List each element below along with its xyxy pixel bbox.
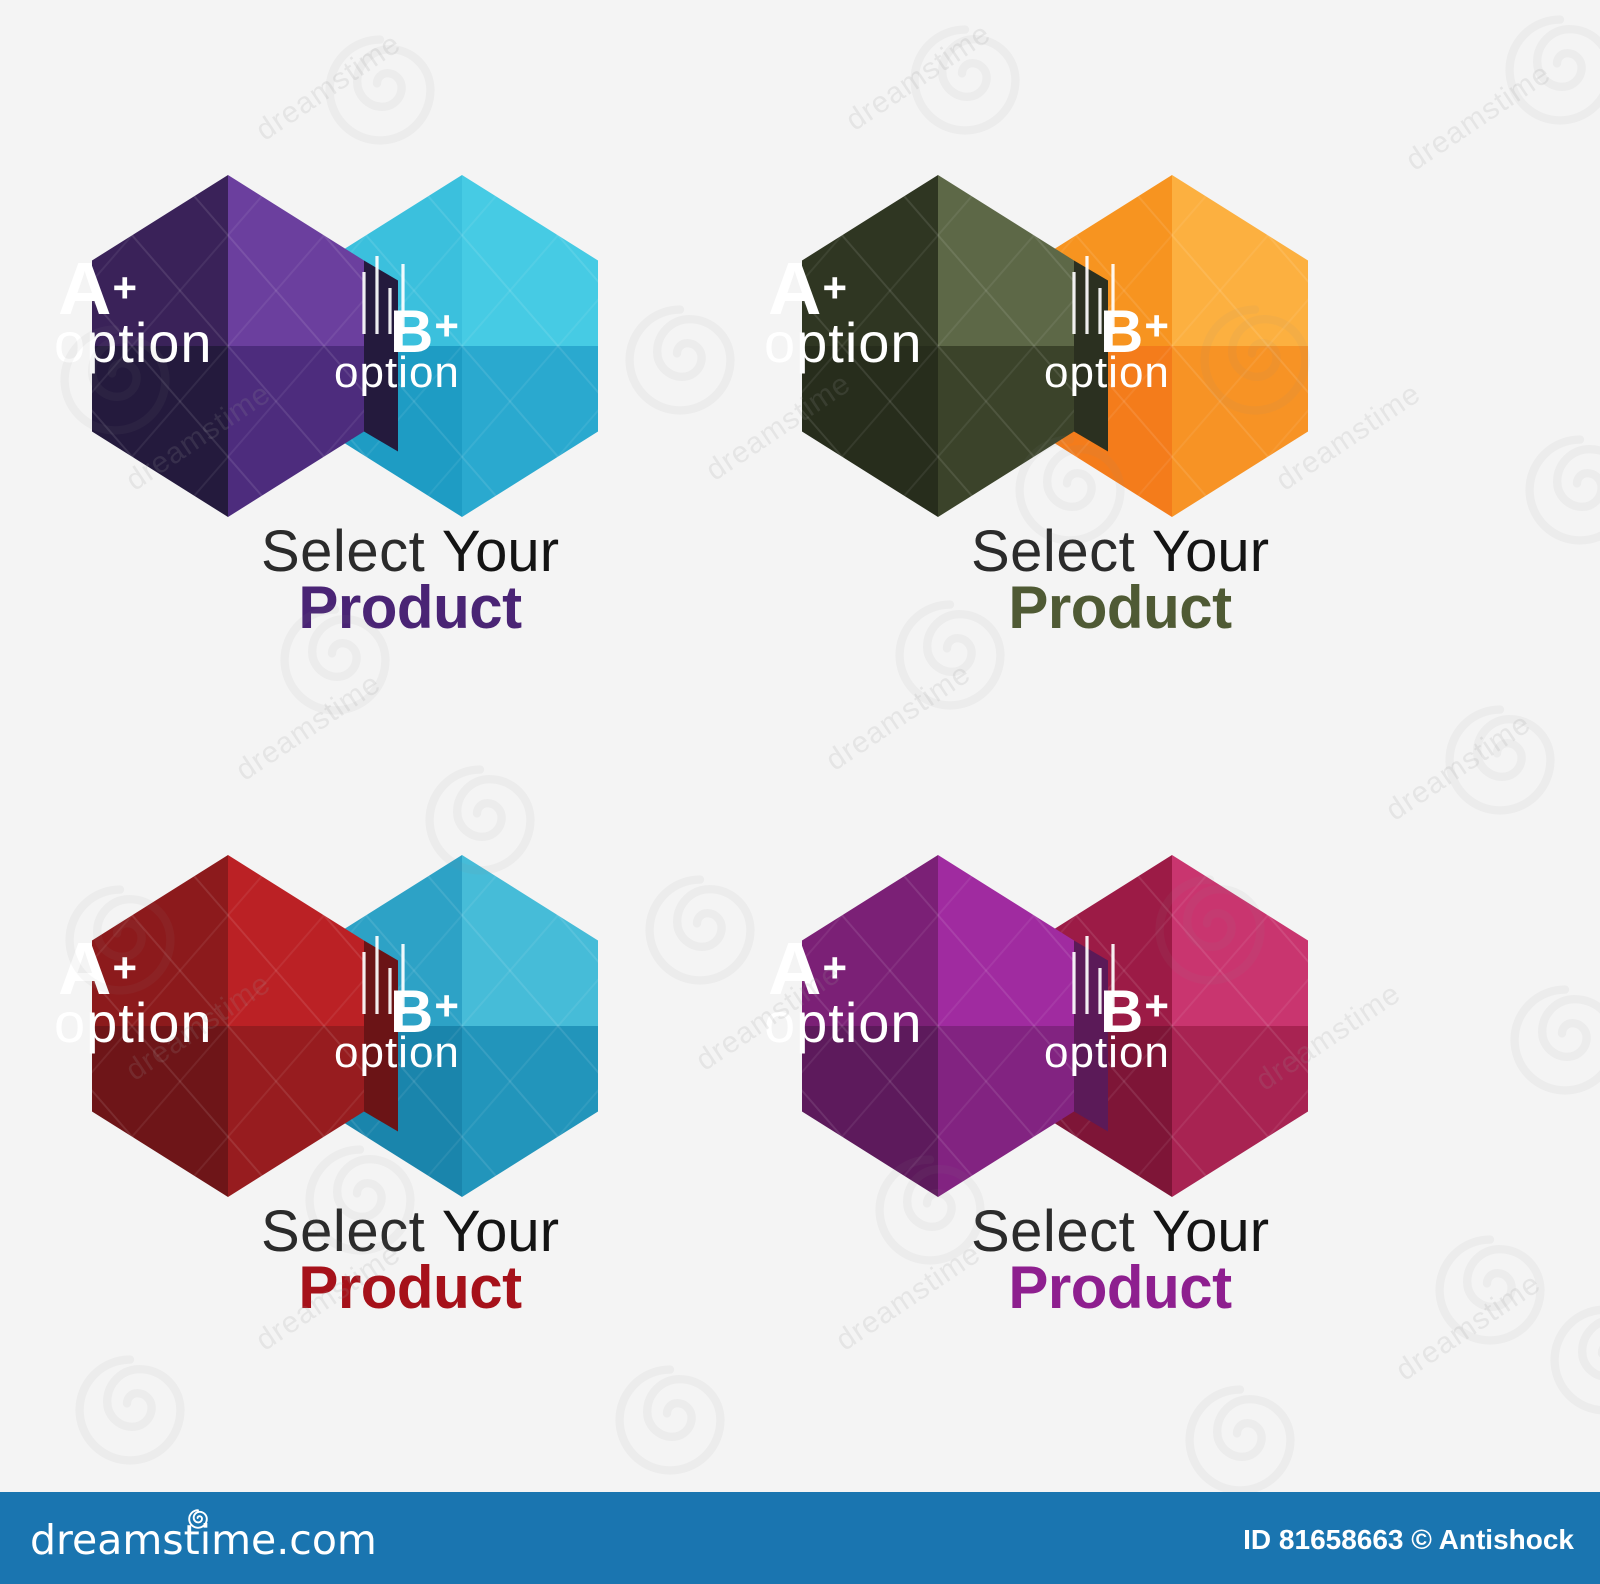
hex-facet-bottom-right <box>1172 1026 1308 1197</box>
image-id-credit: ID 81658663 © Antishock <box>1243 1524 1574 1556</box>
card-headline: Select YourProduct <box>720 1202 1520 1318</box>
hexagon-pair-graphic <box>720 830 1520 1250</box>
hexagon-side-shadow <box>1074 261 1108 452</box>
card-headline: Select YourProduct <box>10 522 810 638</box>
hex-facet-top-left <box>802 175 938 346</box>
headline-line-1: Select Your <box>10 1202 810 1261</box>
product-option-card[interactable]: A+optionB+optionSelect YourProduct <box>10 150 810 850</box>
hex-facet-bottom-right <box>462 346 598 517</box>
hex-facet-top-right <box>462 175 598 346</box>
headline-line-1: Select Your <box>720 522 1520 581</box>
product-option-card[interactable]: A+optionB+optionSelect YourProduct <box>720 830 1520 1530</box>
headline-line-1: Select Your <box>720 1202 1520 1261</box>
headline-word-product: Product <box>720 1257 1520 1318</box>
hex-facet-top-left <box>802 855 938 1026</box>
dreamstime-spiral-icon <box>185 1506 211 1537</box>
hexagon-side-shadow <box>1074 941 1108 1132</box>
hex-facet-top-left <box>92 175 228 346</box>
dreamstime-footer-bar: dreamstime.com ID 81658663 © Antishock <box>0 1492 1600 1584</box>
hex-facet-bottom-right <box>462 1026 598 1197</box>
hexagon-side-shadow <box>364 941 398 1132</box>
hexagon-pair-graphic <box>720 150 1520 570</box>
hex-facet-top-right <box>228 175 364 346</box>
hex-facet-top-right <box>938 175 1074 346</box>
hex-facet-top-right <box>228 855 364 1026</box>
hexagon-tiles-grid: A+optionB+optionSelect YourProductA+opti… <box>0 0 1600 1492</box>
hexagon-pair-graphic <box>10 830 810 1250</box>
headline-line-1: Select Your <box>10 522 810 581</box>
hex-facet-bottom-left <box>92 346 228 517</box>
hex-facet-bottom-left <box>92 1026 228 1197</box>
hexagon-side-shadow <box>364 261 398 452</box>
hexagon-pair-graphic <box>10 150 810 570</box>
product-option-card[interactable]: A+optionB+optionSelect YourProduct <box>10 830 810 1530</box>
hex-facet-top-right <box>462 855 598 1026</box>
card-headline: Select YourProduct <box>10 1202 810 1318</box>
hex-facet-top-right <box>1172 855 1308 1026</box>
headline-word-product: Product <box>720 577 1520 638</box>
hex-facet-bottom-right <box>228 1026 364 1197</box>
hex-facet-top-left <box>92 855 228 1026</box>
product-option-card[interactable]: A+optionB+optionSelect YourProduct <box>720 150 1520 850</box>
hex-facet-bottom-right <box>938 1026 1074 1197</box>
hex-facet-bottom-right <box>938 346 1074 517</box>
headline-word-product: Product <box>10 1257 810 1318</box>
hex-facet-bottom-right <box>228 346 364 517</box>
hex-facet-bottom-left <box>802 346 938 517</box>
hex-facet-top-right <box>1172 175 1308 346</box>
hex-facet-bottom-right <box>1172 346 1308 517</box>
card-headline: Select YourProduct <box>720 522 1520 638</box>
hex-facet-bottom-left <box>802 1026 938 1197</box>
headline-word-product: Product <box>10 577 810 638</box>
hex-facet-top-right <box>938 855 1074 1026</box>
